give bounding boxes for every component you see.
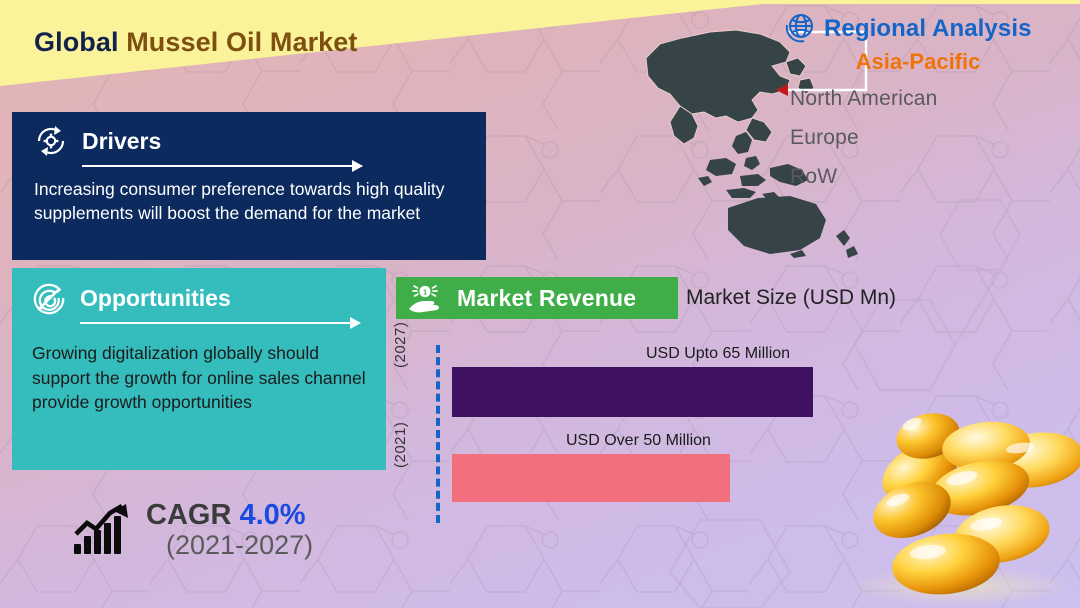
svg-text:1: 1 <box>423 288 427 297</box>
market-revenue-bar-chart: (2027) (2021) USD Upto 65 Million USD Ov… <box>396 340 866 520</box>
market-size-axis-label: Market Size (USD Mn) <box>686 286 896 310</box>
opportunities-header: Opportunities <box>32 281 370 315</box>
cagr-period: (2021-2027) <box>146 531 313 560</box>
drivers-underline-arrow <box>82 160 362 172</box>
opportunities-title: Opportunities <box>80 285 231 312</box>
fish-oil-capsules-image <box>840 400 1080 608</box>
drivers-title: Drivers <box>82 128 161 155</box>
cagr-value: 4.0% <box>239 499 305 531</box>
drivers-card: Drivers Increasing consumer preference t… <box>12 112 486 260</box>
market-revenue-label: Market Revenue <box>457 285 636 312</box>
region-item-europe[interactable]: Europe <box>790 126 1078 150</box>
regional-highlight: Asia-Pacific <box>782 49 1078 75</box>
drivers-body-text: Increasing consumer preference towards h… <box>34 178 468 226</box>
chart-y-axis <box>436 345 440 523</box>
cagr-label: CAGR <box>146 499 231 531</box>
title-prefix: Global <box>34 27 119 57</box>
market-revenue-banner: 1 Market Revenue <box>396 277 678 319</box>
bar-2021[interactable] <box>452 454 730 502</box>
chart-category-2027: (2027) <box>392 322 409 368</box>
cagr-text: CAGR 4.0% (2021-2027) <box>146 500 313 559</box>
globe-icon <box>782 12 816 46</box>
hand-coin-icon: 1 <box>407 283 443 313</box>
chart-category-2021: (2021) <box>392 422 409 468</box>
target-dart-icon <box>32 281 66 315</box>
region-list: North American Europe RoW <box>782 87 1078 189</box>
cagr-block: CAGR 4.0% (2021-2027) <box>72 500 313 559</box>
regional-analysis-header: Regional Analysis <box>782 12 1078 46</box>
bar-value-label-2027: USD Upto 65 Million <box>646 345 790 363</box>
refresh-gear-icon <box>34 124 68 158</box>
title-highlight: Mussel Oil Market <box>126 27 357 57</box>
opportunities-body-text: Growing digitalization globally should s… <box>32 341 370 415</box>
opportunities-underline-arrow <box>80 317 360 329</box>
page-title: Global Mussel Oil Market <box>34 27 358 58</box>
region-item-row[interactable]: RoW <box>790 165 1078 189</box>
regional-analysis-title: Regional Analysis <box>824 15 1032 43</box>
opportunities-card: Opportunities Growing digitalization glo… <box>12 268 386 470</box>
regional-analysis-panel: Regional Analysis Asia-Pacific North Ame… <box>782 12 1078 204</box>
drivers-header: Drivers <box>34 124 468 158</box>
bar-value-label-2021: USD Over 50 Million <box>566 432 711 450</box>
region-item-north-american[interactable]: North American <box>790 87 1078 111</box>
bar-2027[interactable] <box>452 367 813 417</box>
growth-chart-icon <box>72 504 130 556</box>
